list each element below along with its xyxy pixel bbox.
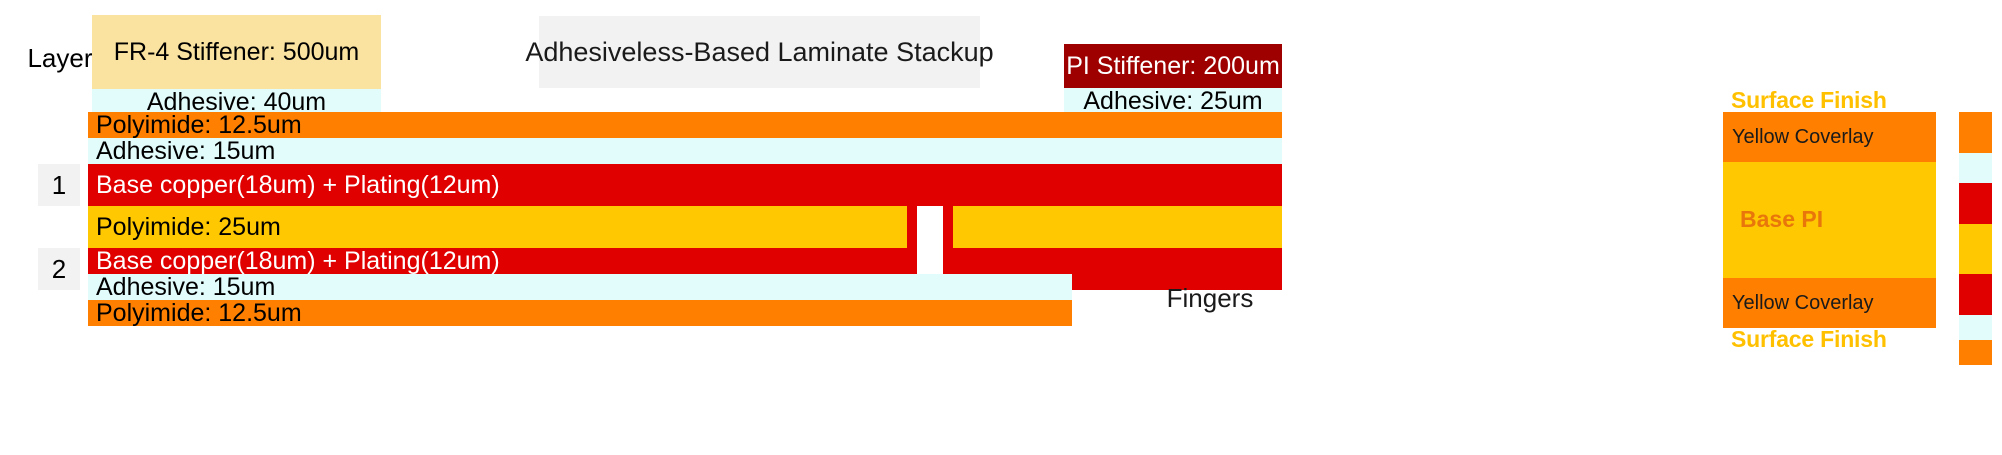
layer-copper-1-finger	[943, 164, 1282, 206]
axis-label-layer: Layer	[26, 40, 94, 76]
legend-base-pi-label: Base PI	[1732, 205, 1932, 233]
micro-stack-surface-finish-bottom	[1959, 340, 1992, 365]
layer-polyimide-bottom: Polyimide: 12.5um	[88, 300, 1072, 326]
diagram-title: Adhesiveless-Based Laminate Stackup	[539, 16, 980, 88]
stackup-diagram: Layer Adhesiveless-Based Laminate Stacku…	[0, 0, 2002, 455]
micro-stack-copper-bottom	[1959, 274, 1992, 315]
layer-copper-edge-right	[943, 206, 953, 248]
legend-coverlay-bottom: Yellow Coverlay	[1723, 278, 1936, 328]
layer-adhesive-15-top: Adhesive: 15um	[88, 138, 1282, 164]
layer-adhesive-25: Adhesive: 25um	[1064, 88, 1282, 115]
layer-polyimide-core-finger	[953, 206, 1282, 248]
micro-stack-adhesive-bottom	[1959, 315, 1992, 340]
micro-stack-copper-top	[1959, 183, 1992, 224]
fingers-label: Fingers	[1138, 281, 1282, 315]
micro-stack-adhesive-top	[1959, 153, 1992, 183]
micro-stack-base-pi	[1959, 224, 1992, 274]
legend-surface-finish-bottom: Surface Finish	[1723, 326, 1943, 352]
layer-polyimide-top: Polyimide: 12.5um	[88, 112, 1282, 138]
pi-stiffener-block: PI Stiffener: 200um	[1064, 44, 1282, 88]
legend-coverlay-top: Yellow Coverlay	[1723, 112, 1936, 162]
layer-copper-1-tab	[917, 164, 943, 206]
micro-stack-surface-finish-top	[1959, 112, 1992, 153]
layer-copper-1-label: Base copper(18um) + Plating(12um)	[88, 164, 917, 206]
layer-number-2: 2	[38, 248, 80, 290]
layer-number-1: 1	[38, 164, 80, 206]
layer-adhesive-15-bottom-band: Adhesive: 15um	[88, 274, 1072, 300]
legend-surface-finish-top: Surface Finish	[1723, 88, 1943, 112]
fr4-stiffener-block: FR-4 Stiffener: 500um	[92, 15, 381, 89]
layer-copper-2-finger-upper	[943, 248, 1282, 274]
